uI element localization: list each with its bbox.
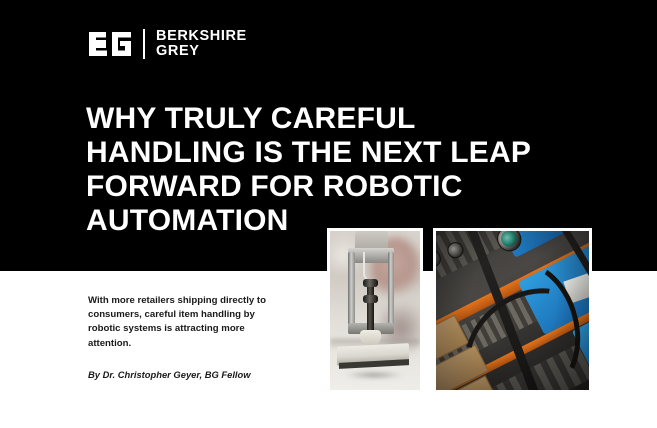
- page-title: WHY TRULY CAREFUL HANDLING IS THE NEXT L…: [86, 102, 556, 238]
- gripper-suction-cup: [360, 330, 382, 346]
- robotic-gripper-photo: [327, 228, 423, 393]
- gripper-knob-lower: [363, 295, 377, 303]
- logo-word-line1: BERKSHIRE: [156, 29, 247, 45]
- gripper-knob-upper: [363, 279, 377, 287]
- machinery-vignette: [436, 231, 589, 390]
- gripper-frame-left: [348, 252, 355, 335]
- bg-monogram-icon: [86, 29, 134, 59]
- gripper-drop-shadow: [344, 371, 403, 379]
- headline-line-2: HANDLING IS THE NEXT LEAP: [86, 136, 556, 170]
- headline-line-1: WHY TRULY CAREFUL: [86, 102, 556, 136]
- author-byline: By Dr. Christopher Geyer, BG Fellow: [88, 368, 283, 381]
- presentation-slide: BERKSHIRE GREY WHY TRULY CAREFUL HANDLIN…: [0, 0, 657, 428]
- logo-wordmark: BERKSHIRE GREY: [156, 29, 247, 60]
- gripper-shaft: [367, 279, 373, 333]
- berkshire-grey-logo[interactable]: BERKSHIRE GREY: [86, 24, 247, 64]
- gripper-frame-right: [388, 252, 395, 335]
- robotic-gripper-photo-content: [330, 231, 420, 390]
- intro-copy-block: With more retailers shipping directly to…: [88, 294, 283, 381]
- robotic-sorting-machinery-photo: [433, 228, 592, 393]
- headline-line-3: FORWARD FOR ROBOTIC: [86, 170, 556, 204]
- vertical-divider-icon: [143, 29, 145, 59]
- logo-word-line2: GREY: [156, 44, 247, 60]
- robotic-sorting-machinery-photo-content: [436, 231, 589, 390]
- intro-paragraph: With more retailers shipping directly to…: [88, 294, 283, 351]
